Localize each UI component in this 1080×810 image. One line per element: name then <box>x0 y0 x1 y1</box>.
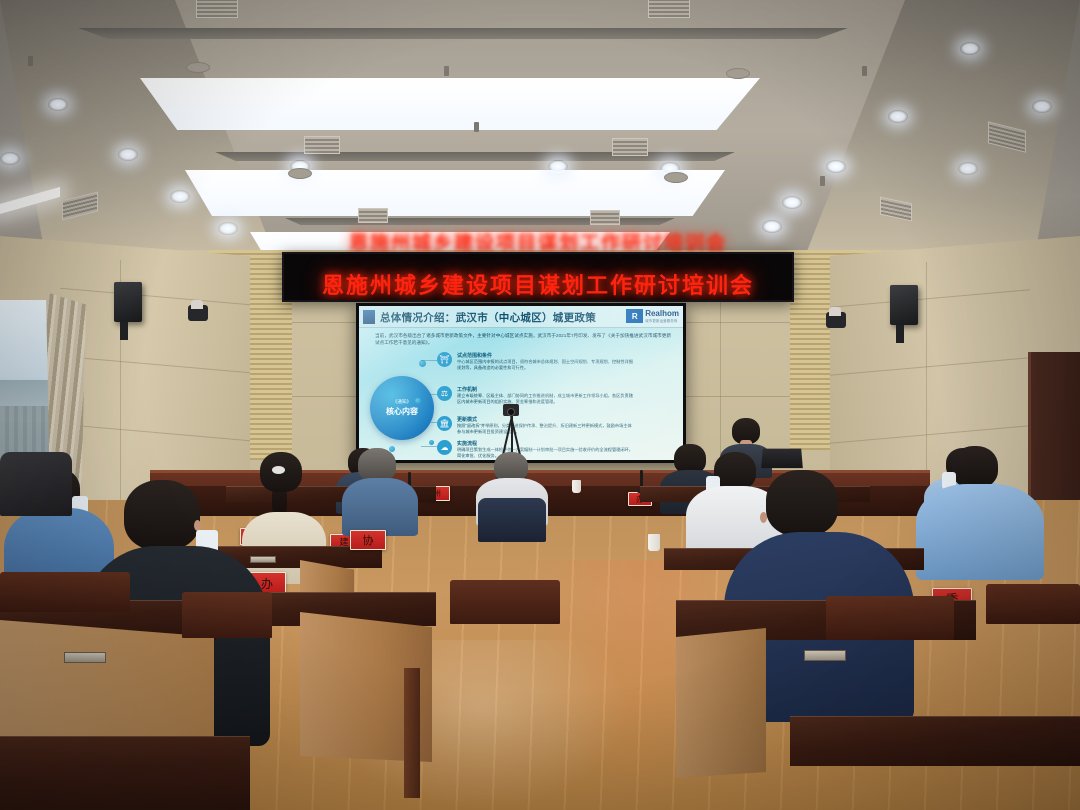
desk-row1-left-side <box>0 620 214 740</box>
chair-back-center <box>450 580 560 624</box>
logo-mark-icon: R <box>626 309 643 323</box>
attendee-lightblue-head <box>952 446 998 488</box>
desk-row2-left-plaque <box>250 556 276 563</box>
ceiling-beam-2 <box>215 152 735 161</box>
chair-back-right-1 <box>826 596 954 640</box>
security-camera-left <box>188 305 208 321</box>
air-vent-4 <box>612 138 648 156</box>
desk-row1-far-right-top <box>790 716 1080 766</box>
ceiling-disc-2 <box>726 68 750 79</box>
air-vent-1 <box>196 0 238 18</box>
slide-branch-text-0: 中心城区范围内申报的试点项目，须符合城市总体规划、国土空间规划、专项规划、控制性… <box>457 359 633 372</box>
downlight-14 <box>548 160 568 173</box>
ceiling-beam-1 <box>78 28 848 39</box>
led-banner-ghost-text: 恩施州城乡建设项目谋划工作研讨培训会 <box>282 228 794 254</box>
sprinkler-2 <box>444 66 449 76</box>
desk-row1-far-left-top <box>0 736 250 810</box>
desk-row1-center-leg <box>404 668 420 798</box>
slide-header: 总体情况介绍：武汉市（中心城区）城更政策 R Realhom 城市更新运营服务商 <box>359 306 683 328</box>
attendee-front-dark-head <box>124 480 200 550</box>
desk-row1-left-plaque <box>64 652 106 663</box>
slide-title: 总体情况介绍：武汉市（中心城区）城更政策 <box>380 310 596 325</box>
air-vent-3 <box>304 136 340 154</box>
attendee-white-shirt-head <box>714 452 756 490</box>
downlight-1 <box>48 98 68 111</box>
downlight-6 <box>960 42 980 55</box>
desk-row1-far-right <box>790 716 1080 766</box>
sprinkler-1 <box>28 56 33 66</box>
downlight-9 <box>826 160 846 173</box>
slide-branch-text-3: 明确项目策划生成—体检评估—方案编制—计划审批—项目实施—验收评价的全流程管理闭… <box>457 447 633 460</box>
downlight-2 <box>118 148 138 161</box>
desk-row1-right-side <box>676 628 766 778</box>
wall-speaker-right <box>890 285 918 325</box>
attendee-far-left-jacket <box>478 498 546 542</box>
attendee-woman-hair-tie <box>272 466 285 474</box>
namecard-row2-2-text: 协 <box>351 531 385 546</box>
chair-back-left-1 <box>0 572 130 612</box>
slide-dot-4 <box>429 440 434 445</box>
left-wall-line-1 <box>60 288 250 306</box>
downlight-4 <box>218 222 238 235</box>
realhom-logo: R Realhom 城市更新运营服务商 <box>626 309 679 323</box>
ceiling-disc-4 <box>664 172 688 183</box>
slide-branch-icon-1: ⚖ <box>437 386 452 401</box>
slide-core-title: 核心内容 <box>386 406 418 417</box>
downlight-5 <box>0 152 20 165</box>
air-vent-6 <box>590 210 620 225</box>
led-banner-text: 恩施州城乡建设项目谋划工作研讨培训会 <box>284 268 792 300</box>
sprinkler-5 <box>820 176 825 186</box>
attendee-front-navy-head <box>766 470 838 536</box>
chair-back-right-2 <box>986 584 1080 624</box>
slide-branch-icon-0: ⛩ <box>437 352 452 367</box>
ceiling-light-panel-1 <box>140 78 760 130</box>
projection-screen: 总体情况介绍：武汉市（中心城区）城更政策 R Realhom 城市更新运营服务商… <box>356 303 686 463</box>
right-wall-line-2 <box>830 357 1030 375</box>
logo-brand-name: Realhom <box>645 310 679 318</box>
right-wall-line-3 <box>830 425 1030 443</box>
slide-branch-icon-3: ☁ <box>437 440 452 455</box>
slide-branch-text-2: 按照"留改拆"并举原则，分类推进保护传承、整治提升、拆旧建新三种更新模式，鼓励市… <box>457 423 633 436</box>
slide-dot-2 <box>415 398 421 404</box>
downlight-7 <box>888 110 908 123</box>
slide-core-label: 《通知》 <box>393 399 411 405</box>
attendee-blue-check-torso <box>342 478 418 536</box>
downlight-10 <box>958 162 978 175</box>
desk-row1-far-left <box>0 736 250 810</box>
office-chair-left <box>0 452 72 516</box>
security-camera-right <box>826 312 846 328</box>
namecard-row2-2: 协 <box>350 530 386 550</box>
wall-speaker-left <box>114 282 142 322</box>
water-cup-row2 <box>648 534 660 551</box>
slide-header-accent <box>363 310 375 324</box>
ceiling-light-panel-2 <box>185 170 725 216</box>
slide-branch-icon-2: 🏛 <box>437 416 452 431</box>
downlight-3 <box>170 190 190 203</box>
slide-branch-text-1: 建立市级统筹、区级主体、部门协同的工作推进机制，成立城市更新工作领导小组，各区负… <box>457 393 633 406</box>
downlight-11 <box>782 196 802 209</box>
right-wall-line-1 <box>830 289 1030 307</box>
slide-core-circle: 《通知》 核心内容 <box>370 376 434 440</box>
slide-paragraph: 当前，武汉市各级出台了诸多城市更新政策文件，主要针对中心城区试点实施，武汉市于2… <box>375 332 671 346</box>
left-wall-line-3 <box>60 424 250 442</box>
slide-dot-1 <box>419 360 426 367</box>
ceiling-disc-1 <box>186 62 210 73</box>
slide-body: 当前，武汉市各级出台了诸多城市更新政策文件，主要针对中心城区试点实施，武汉市于2… <box>359 328 683 460</box>
attendee-front-navy-ear <box>760 512 767 523</box>
left-wall-line-2 <box>60 356 250 374</box>
water-cup-front <box>572 480 581 493</box>
logo-subtitle: 城市更新运营服务商 <box>645 318 679 323</box>
led-banner: 恩施州城乡建设项目谋划工作研讨培训会 <box>282 252 794 302</box>
desk-row1-right-plaque <box>804 650 846 661</box>
presentation-slide: 总体情况介绍：武汉市（中心城区）城更政策 R Realhom 城市更新运营服务商… <box>359 306 683 460</box>
air-vent-5 <box>358 208 388 223</box>
ceiling-disc-3 <box>288 168 312 179</box>
attendee-blue-check-head <box>358 448 396 482</box>
conference-room-photo: 恩施州城乡建设项目谋划工作研讨培训会 恩施州城乡建设项目谋划工作研讨培训会 总体… <box>0 0 1080 810</box>
exit-door[interactable] <box>1028 352 1080 502</box>
attendee-lightblue-torso <box>916 484 1044 580</box>
sprinkler-3 <box>862 66 867 76</box>
ceiling <box>0 0 1080 262</box>
chair-back-left-2 <box>182 592 272 638</box>
air-vent-2 <box>648 0 690 18</box>
sprinkler-4 <box>474 122 479 132</box>
presenter-laptop <box>761 449 803 468</box>
downlight-8 <box>1032 100 1052 113</box>
